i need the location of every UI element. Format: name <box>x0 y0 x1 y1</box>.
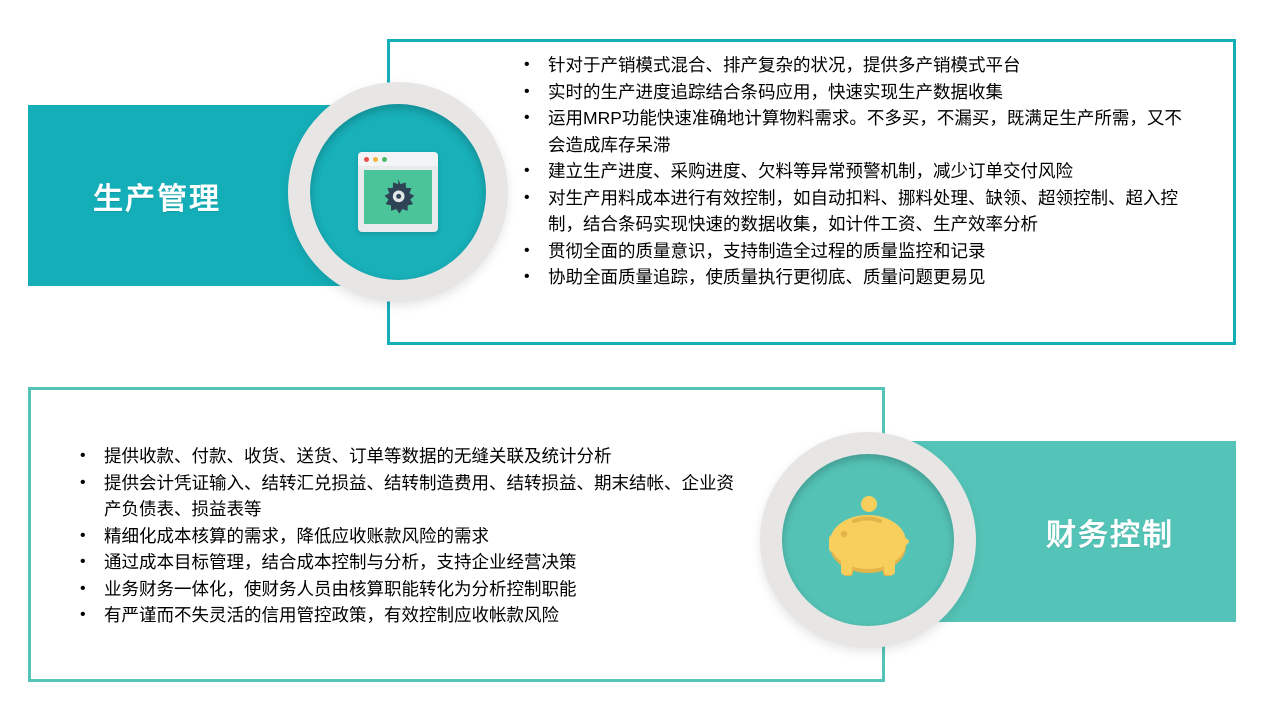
gear-icon <box>376 175 420 219</box>
list-item: 建立生产进度、采购进度、欠料等异常预警机制，减少订单交付风险 <box>520 158 1190 185</box>
list-item: 对生产用料成本进行有效控制，如自动扣料、挪料处理、缺领、超领控制、超入控制，结合… <box>520 185 1190 238</box>
production-icon-disc <box>310 104 486 280</box>
list-item: 有严谨而不失灵活的信用管控政策，有效控制应收帐款风险 <box>76 602 746 629</box>
piggy-bank-icon <box>813 490 923 590</box>
list-item: 针对于产销模式混合、排产复杂的状况，提供多产销模式平台 <box>520 52 1190 79</box>
close-dot-icon <box>364 157 369 162</box>
page-title: 财务控制 <box>1046 510 1174 554</box>
list-item: 协助全面质量追踪，使质量执行更彻底、质量问题更易见 <box>520 264 1190 291</box>
slide-canvas: 针对于产销模式混合、排产复杂的状况，提供多产销模式平台 实时的生产进度追踪结合条… <box>0 0 1264 710</box>
list-item: 通过成本目标管理，结合成本控制与分析，支持企业经营决策 <box>76 549 746 576</box>
browser-viewport <box>364 170 432 224</box>
maximize-dot-icon <box>382 157 387 162</box>
list-item: 运用MRP功能快速准确地计算物料需求。不多买，不漏买，既满足生产所需，又不会造成… <box>520 105 1190 158</box>
browser-window-gear-icon <box>358 152 438 232</box>
list-item: 贯彻全面的质量意识，支持制造全过程的质量监控和记录 <box>520 238 1190 265</box>
list-item: 提供会计凭证输入、结转汇兑损益、结转制造费用、结转损益、期末结帐、企业资产负债表… <box>76 470 746 523</box>
production-icon-badge <box>288 82 508 302</box>
minimize-dot-icon <box>373 157 378 162</box>
list-item: 精细化成本核算的需求，降低应收账款风险的需求 <box>76 523 746 550</box>
finance-icon-disc <box>782 454 954 626</box>
finance-bullet-list: 提供收款、付款、收货、送货、订单等数据的无缝关联及统计分析 提供会计凭证输入、结… <box>76 443 746 629</box>
production-bullet-list: 针对于产销模式混合、排产复杂的状况，提供多产销模式平台 实时的生产进度追踪结合条… <box>520 52 1190 291</box>
list-item: 业务财务一体化，使财务人员由核算职能转化为分析控制职能 <box>76 576 746 603</box>
page-title: 生产管理 <box>93 174 221 218</box>
list-item: 提供收款、付款、收货、送货、订单等数据的无缝关联及统计分析 <box>76 443 746 470</box>
finance-icon-badge <box>760 432 976 648</box>
browser-titlebar <box>358 152 438 166</box>
list-item: 实时的生产进度追踪结合条码应用，快速实现生产数据收集 <box>520 79 1190 106</box>
